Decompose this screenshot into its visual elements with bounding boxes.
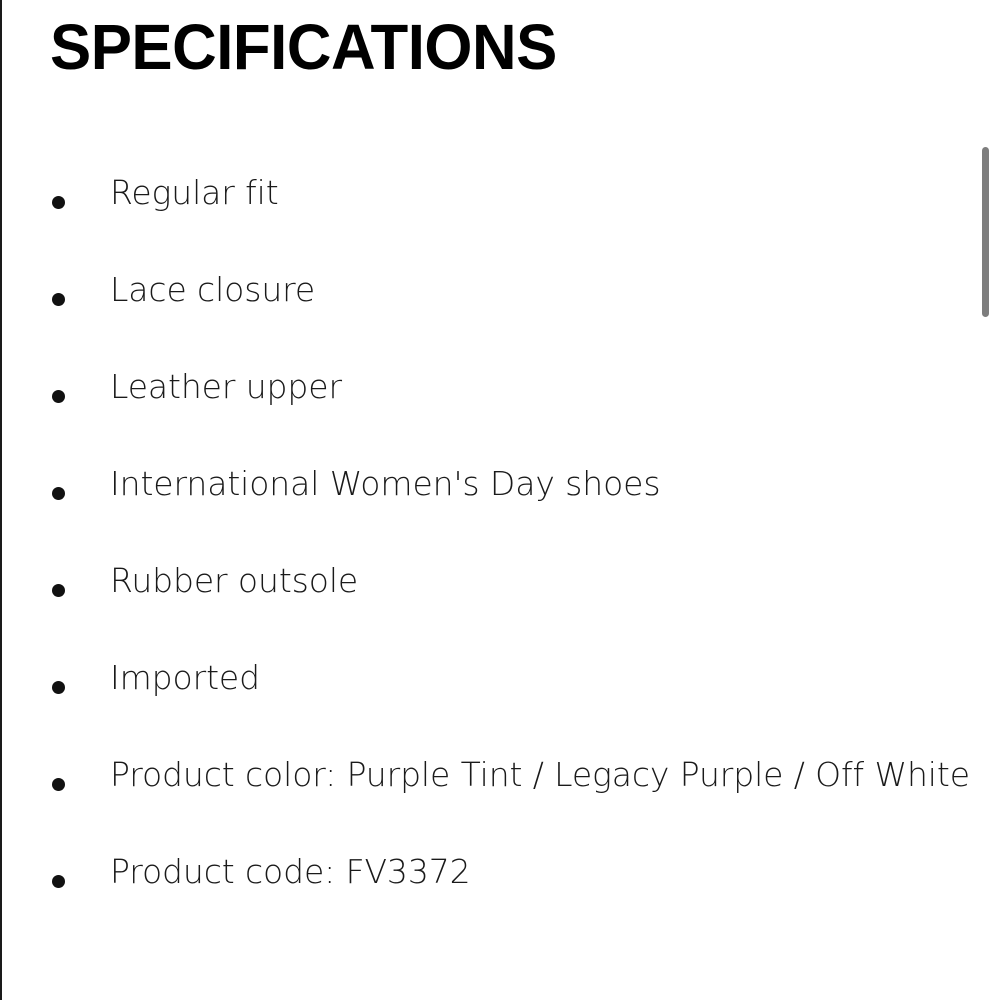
list-item: Product color: Purple Tint / Legacy Purp… — [2, 753, 962, 850]
list-item: Imported — [2, 656, 962, 753]
bullet-icon — [52, 778, 65, 791]
spec-item-label: Lace closure — [110, 268, 315, 312]
specifications-list: Regular fit Lace closure Leather upper I… — [2, 171, 962, 947]
list-item: Regular fit — [2, 171, 962, 268]
bullet-icon — [52, 875, 65, 888]
bullet-icon — [52, 390, 65, 403]
bullet-icon — [52, 293, 65, 306]
list-item: Lace closure — [2, 268, 962, 365]
spec-item-label: Product color: Purple Tint / Legacy Purp… — [110, 753, 970, 797]
bullet-icon — [52, 584, 65, 597]
list-item: International Women's Day shoes — [2, 462, 962, 559]
spec-item-label: Imported — [110, 656, 260, 700]
spec-item-label: Product code: FV3372 — [110, 850, 471, 894]
list-item: Leather upper — [2, 365, 962, 462]
scrollbar-thumb[interactable] — [982, 147, 989, 317]
bullet-icon — [52, 196, 65, 209]
spec-item-label: International Women's Day shoes — [110, 462, 660, 506]
bullet-icon — [52, 681, 65, 694]
page-title: SPECIFICATIONS — [50, 15, 557, 79]
specifications-panel: SPECIFICATIONS Regular fit Lace closure … — [0, 0, 1000, 1000]
spec-item-label: Rubber outsole — [110, 559, 358, 603]
spec-item-label: Leather upper — [110, 365, 342, 409]
list-item: Rubber outsole — [2, 559, 962, 656]
bullet-icon — [52, 487, 65, 500]
list-item: Product code: FV3372 — [2, 850, 962, 947]
spec-item-label: Regular fit — [110, 171, 279, 215]
